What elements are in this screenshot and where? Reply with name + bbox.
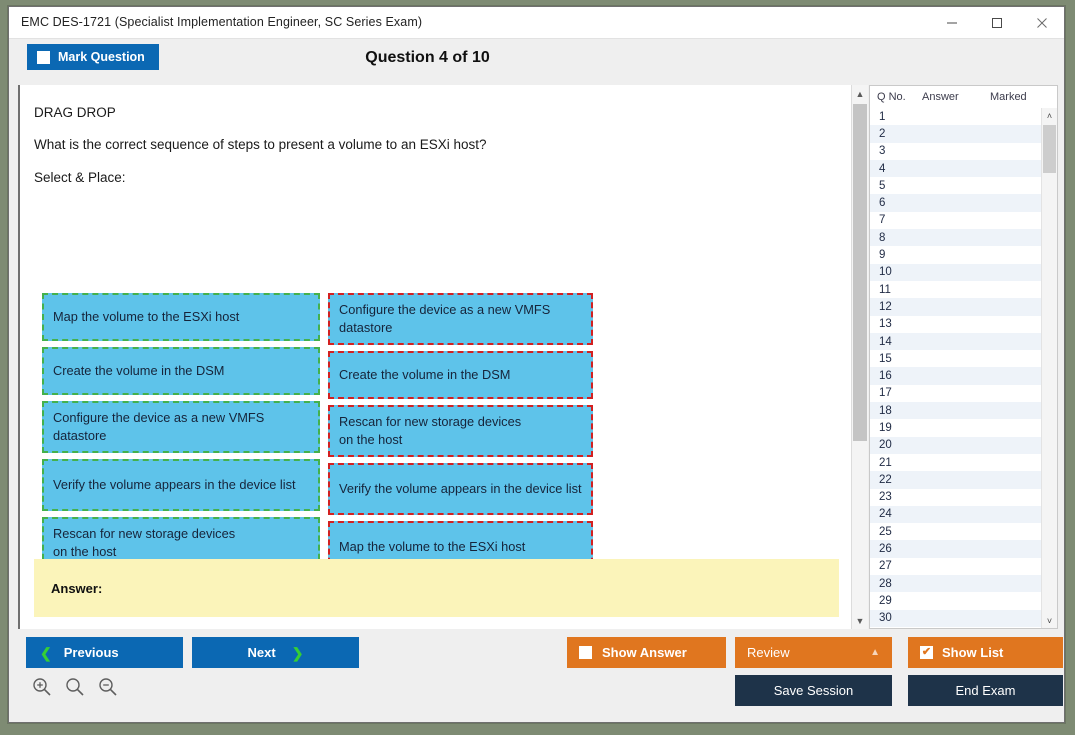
table-row[interactable]: 4 (870, 160, 1042, 177)
drop-item[interactable]: Verify the volume appears in the device … (328, 463, 593, 515)
mark-question-label: Mark Question (58, 50, 145, 64)
row-question-number: 21 (870, 457, 922, 469)
end-exam-button[interactable]: End Exam (908, 675, 1063, 706)
row-question-number: 26 (870, 543, 922, 555)
table-row[interactable]: 13 (870, 316, 1042, 333)
mark-question-checkbox-icon[interactable] (37, 51, 50, 64)
table-row[interactable]: 15 (870, 350, 1042, 367)
row-question-number: 9 (870, 249, 922, 261)
maximize-icon (991, 17, 1003, 29)
table-row[interactable]: 10 (870, 264, 1042, 281)
row-question-number: 11 (870, 284, 922, 296)
column-header-marked: Marked (990, 91, 1050, 103)
maximize-button[interactable] (974, 7, 1019, 38)
zoom-controls (31, 676, 119, 698)
drag-item[interactable]: Configure the device as a new VMFS datas… (42, 401, 320, 453)
page-title: Question 4 of 10 (9, 39, 1066, 77)
row-question-number: 3 (870, 145, 922, 157)
question-instruction: Select & Place: (34, 170, 126, 185)
drop-item[interactable]: Rescan for new storage devices on the ho… (328, 405, 593, 457)
list-scroll-up-arrow-icon[interactable]: ˄ (1042, 108, 1057, 124)
row-question-number: 10 (870, 266, 922, 278)
row-question-number: 6 (870, 197, 922, 209)
column-header-qno: Q No. (870, 91, 922, 103)
show-answer-button[interactable]: Show Answer (567, 637, 726, 668)
row-question-number: 8 (870, 232, 922, 244)
table-row[interactable]: 20 (870, 437, 1042, 454)
chevron-up-icon: ▲ (870, 647, 880, 658)
content-region: DRAG DROP What is the correct sequence o… (18, 85, 1058, 629)
question-list-scrollbar[interactable]: ˄ ˅ (1041, 108, 1057, 629)
table-row[interactable]: 5 (870, 177, 1042, 194)
minimize-icon (946, 17, 958, 29)
show-answer-checkbox-icon[interactable] (579, 646, 592, 659)
table-row[interactable]: 8 (870, 229, 1042, 246)
header-bar: Question 4 of 10 Mark Question (9, 39, 1064, 77)
next-button[interactable]: Next ❯ (192, 637, 359, 668)
row-question-number: 29 (870, 595, 922, 607)
question-prompt: What is the correct sequence of steps to… (34, 137, 487, 152)
question-pane-scrollbar[interactable]: ▲ ▼ (851, 85, 868, 629)
table-row[interactable]: 25 (870, 523, 1042, 540)
close-button[interactable] (1019, 7, 1064, 38)
row-question-number: 24 (870, 508, 922, 520)
row-question-number: 4 (870, 163, 922, 175)
table-row[interactable]: 23 (870, 489, 1042, 506)
row-question-number: 17 (870, 387, 922, 399)
row-question-number: 28 (870, 578, 922, 590)
table-row[interactable]: 27 (870, 558, 1042, 575)
row-question-number: 23 (870, 491, 922, 503)
end-exam-label: End Exam (956, 683, 1016, 698)
review-label: Review (747, 645, 790, 660)
table-row[interactable]: 26 (870, 540, 1042, 557)
question-pane: DRAG DROP What is the correct sequence o… (18, 85, 851, 629)
chevron-left-icon: ❮ (40, 646, 52, 660)
row-question-number: 7 (870, 214, 922, 226)
drag-item[interactable]: Create the volume in the DSM (42, 347, 320, 395)
drop-item[interactable]: Configure the device as a new VMFS datas… (328, 293, 593, 345)
zoom-in-icon[interactable] (31, 676, 53, 698)
row-question-number: 2 (870, 128, 922, 140)
drag-item[interactable]: Map the volume to the ESXi host (42, 293, 320, 341)
table-row[interactable]: 7 (870, 212, 1042, 229)
answer-label: Answer: (51, 581, 102, 596)
list-scroll-down-arrow-icon[interactable]: ˅ (1042, 613, 1057, 629)
question-type-label: DRAG DROP (34, 105, 116, 120)
row-question-number: 14 (870, 336, 922, 348)
previous-button[interactable]: ❮ Previous (26, 637, 183, 668)
row-question-number: 22 (870, 474, 922, 486)
chevron-right-icon: ❯ (292, 646, 304, 660)
drag-item[interactable]: Verify the volume appears in the device … (42, 459, 320, 511)
drop-target-column: Configure the device as a new VMFS datas… (328, 293, 593, 579)
question-list-header: Q No. Answer Marked (870, 86, 1057, 108)
row-question-number: 13 (870, 318, 922, 330)
scroll-up-arrow-icon[interactable]: ▲ (852, 85, 868, 102)
table-row[interactable]: 11 (870, 281, 1042, 298)
scroll-down-arrow-icon[interactable]: ▼ (852, 612, 868, 629)
row-question-number: 20 (870, 439, 922, 451)
minimize-button[interactable] (929, 7, 974, 38)
table-row[interactable]: 29 (870, 592, 1042, 609)
row-question-number: 5 (870, 180, 922, 192)
table-row[interactable]: 19 (870, 419, 1042, 436)
zoom-out-icon[interactable] (97, 676, 119, 698)
title-bar: EMC DES-1721 (Specialist Implementation … (9, 7, 1064, 39)
scrollbar-thumb[interactable] (853, 104, 867, 441)
row-question-number: 18 (870, 405, 922, 417)
close-icon (1036, 17, 1048, 29)
save-session-label: Save Session (774, 683, 854, 698)
list-scrollbar-thumb[interactable] (1043, 125, 1056, 173)
table-row[interactable]: 17 (870, 385, 1042, 402)
table-row[interactable]: 9 (870, 246, 1042, 263)
table-row[interactable]: 6 (870, 194, 1042, 211)
row-question-number: 16 (870, 370, 922, 382)
table-row[interactable]: 21 (870, 454, 1042, 471)
save-session-button[interactable]: Save Session (735, 675, 892, 706)
table-row[interactable]: 2 (870, 125, 1042, 142)
footer-toolbar: ❮ Previous Next ❯ (9, 629, 1064, 722)
table-row[interactable]: 16 (870, 367, 1042, 384)
row-question-number: 1 (870, 111, 922, 123)
review-dropdown[interactable]: Review ▲ (735, 637, 892, 668)
table-row[interactable]: 30 (870, 610, 1042, 627)
table-row[interactable]: 24 (870, 506, 1042, 523)
row-question-number: 12 (870, 301, 922, 313)
answer-section: Answer: (34, 559, 839, 617)
table-row[interactable]: 28 (870, 575, 1042, 592)
question-list-panel: Q No. Answer Marked 12345678910111213141… (869, 85, 1058, 629)
mark-question-button[interactable]: Mark Question (27, 44, 159, 70)
next-label: Next (248, 645, 276, 660)
row-question-number: 15 (870, 353, 922, 365)
table-row[interactable]: 18 (870, 402, 1042, 419)
column-header-answer: Answer (922, 91, 990, 103)
table-row[interactable]: 12 (870, 298, 1042, 315)
table-row[interactable]: 1 (870, 108, 1042, 125)
show-list-label: Show List (942, 645, 1003, 660)
show-list-checkbox-icon[interactable]: ✔ (920, 646, 933, 659)
row-question-number: 27 (870, 560, 922, 572)
table-row[interactable]: 3 (870, 143, 1042, 160)
show-list-button[interactable]: ✔ Show List (908, 637, 1063, 668)
exam-window: EMC DES-1721 (Specialist Implementation … (8, 6, 1065, 723)
table-row[interactable]: 14 (870, 333, 1042, 350)
table-row[interactable]: 22 (870, 471, 1042, 488)
drag-source-column: Map the volume to the ESXi host Create t… (42, 293, 320, 575)
show-answer-label: Show Answer (602, 645, 687, 660)
previous-label: Previous (64, 645, 119, 660)
row-question-number: 19 (870, 422, 922, 434)
question-list-rows: 1234567891011121314151617181920212223242… (870, 108, 1042, 629)
row-question-number: 30 (870, 612, 922, 624)
window-title: EMC DES-1721 (Specialist Implementation … (21, 15, 422, 29)
drop-item[interactable]: Create the volume in the DSM (328, 351, 593, 399)
row-question-number: 25 (870, 526, 922, 538)
zoom-reset-icon[interactable] (64, 676, 86, 698)
